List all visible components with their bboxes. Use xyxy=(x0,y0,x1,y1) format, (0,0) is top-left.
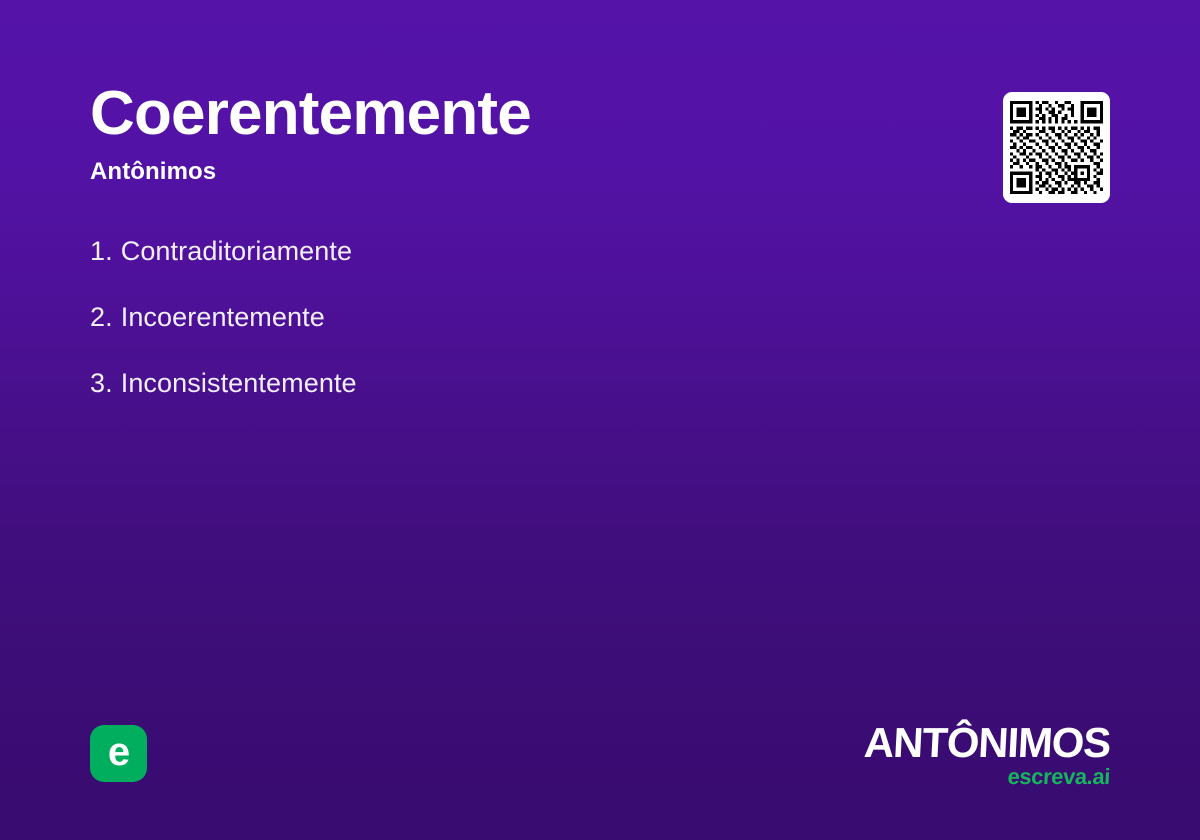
antonyms-card: Coerentemente Antônimos 1.Contraditoriam… xyxy=(0,0,1200,840)
list-item: 3.Inconsistentemente xyxy=(90,370,950,397)
list-item: 1.Contraditoriamente xyxy=(90,238,950,265)
list-item: 2.Incoerentemente xyxy=(90,304,950,331)
list-item-label: Inconsistentemente xyxy=(121,368,357,398)
list-item-label: Incoerentemente xyxy=(121,302,325,332)
escreva-e-badge-icon[interactable]: e xyxy=(90,725,147,782)
list-item-number: 2. xyxy=(90,304,113,331)
qr-code-icon xyxy=(1010,100,1103,195)
antonyms-list: 1.Contraditoriamente 2.Incoerentemente 3… xyxy=(90,238,950,436)
header-block: Coerentemente Antônimos xyxy=(90,82,950,186)
wordmark-primary: ANTÔNIMOS xyxy=(689,722,1111,764)
page-title: Coerentemente xyxy=(90,82,950,146)
badge-letter: e xyxy=(108,732,129,772)
brand-wordmark: ANTÔNIMOS escreva.ai xyxy=(690,722,1110,788)
qr-code-card[interactable] xyxy=(1003,92,1110,203)
list-item-number: 1. xyxy=(90,238,113,265)
wordmark-secondary: escreva.ai xyxy=(689,766,1110,788)
page-subtitle: Antônimos xyxy=(90,158,950,186)
list-item-label: Contraditoriamente xyxy=(121,236,352,266)
list-item-number: 3. xyxy=(90,370,113,397)
